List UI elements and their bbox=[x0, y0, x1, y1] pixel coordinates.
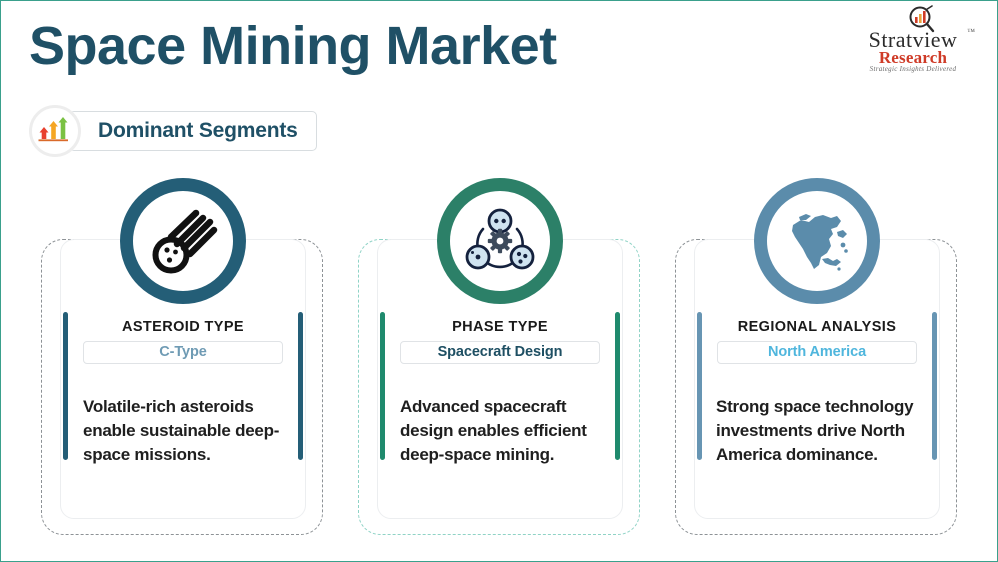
card-inner-panel: REGIONAL ANALYSIS North America Strong s… bbox=[694, 239, 940, 519]
three-rising-arrows-icon bbox=[38, 115, 72, 148]
infographic-page: Space Mining Market Stratview ™ Research… bbox=[0, 0, 998, 562]
card-heading: PHASE TYPE bbox=[402, 319, 598, 335]
segment-card-phase-type: PHASE TYPE Spacecraft Design Advanced sp… bbox=[358, 239, 640, 535]
page-title: Space Mining Market bbox=[29, 15, 557, 77]
segment-card-regional-analysis: REGIONAL ANALYSIS North America Strong s… bbox=[675, 239, 957, 535]
card-value-pill: Spacecraft Design bbox=[400, 341, 600, 364]
card-inner-panel: ASTEROID TYPE C-Type Volatile-rich aster… bbox=[60, 239, 306, 519]
card-accent-bar-left bbox=[697, 312, 702, 460]
card-value-pill: North America bbox=[717, 341, 917, 364]
card-inner-panel: PHASE TYPE Spacecraft Design Advanced sp… bbox=[377, 239, 623, 519]
dominant-segments-badge: Dominant Segments bbox=[29, 105, 317, 157]
card-description: Strong space technology investments driv… bbox=[716, 395, 931, 467]
card-accent-bar-right bbox=[298, 312, 303, 460]
card-heading: REGIONAL ANALYSIS bbox=[719, 319, 915, 335]
segment-card-asteroid-type: ASTEROID TYPE C-Type Volatile-rich aster… bbox=[41, 239, 323, 535]
process-cycle-gear-icon bbox=[437, 178, 563, 304]
card-description: Volatile-rich asteroids enable sustainab… bbox=[83, 395, 289, 467]
card-accent-bar-right bbox=[615, 312, 620, 460]
card-value-pill: C-Type bbox=[83, 341, 283, 364]
badge-icon-circle bbox=[29, 105, 81, 157]
card-accent-bar-left bbox=[63, 312, 68, 460]
comet-asteroid-icon bbox=[120, 178, 246, 304]
logo-tagline: Strategic Insights Delivered bbox=[843, 65, 983, 73]
north-america-globe-icon bbox=[754, 178, 880, 304]
card-accent-bar-right bbox=[932, 312, 937, 460]
card-description: Advanced spacecraft design enables effic… bbox=[400, 395, 606, 467]
card-accent-bar-left bbox=[380, 312, 385, 460]
card-heading: ASTEROID TYPE bbox=[85, 319, 281, 335]
brand-logo: Stratview ™ Research Strategic Insights … bbox=[843, 5, 983, 73]
logo-trademark: ™ bbox=[967, 27, 975, 36]
badge-label: Dominant Segments bbox=[69, 111, 317, 151]
